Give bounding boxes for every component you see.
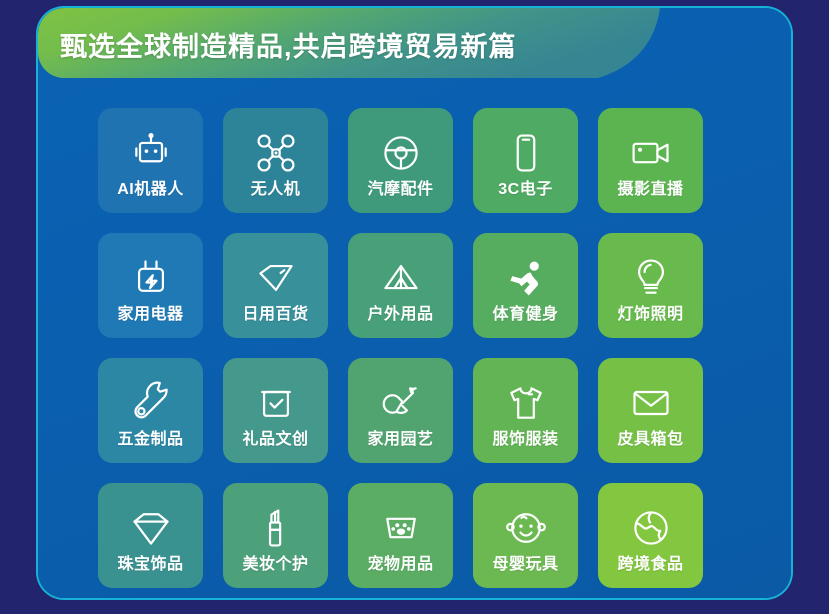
baby-face-icon [503,505,549,551]
category-tile-lipstick[interactable]: 美妆个护 [223,483,328,588]
steering-wheel-icon [378,130,424,176]
category-tile-globe[interactable]: 跨境食品 [598,483,703,588]
tshirt-icon [503,380,549,426]
category-tile-tent[interactable]: 户外用品 [348,233,453,338]
category-tile-wrench[interactable]: 五金制品 [98,358,203,463]
power-plug-icon [128,255,174,301]
category-tile-tshirt[interactable]: 服饰服装 [473,358,578,463]
category-tile-video-camera[interactable]: 摄影直播 [598,108,703,213]
category-tile-steering-wheel[interactable]: 汽摩配件 [348,108,453,213]
category-tile-pet-bowl[interactable]: 宠物用品 [348,483,453,588]
price-tag-icon [253,255,299,301]
category-tile-label: 汽摩配件 [367,182,433,198]
category-tile-label: 户外用品 [367,307,433,323]
category-tile-price-tag[interactable]: 日用百货 [223,233,328,338]
page-background: 甄选全球制造精品,共启跨境贸易新篇 AI机器人无人机汽摩配件3C电子摄影直播家用… [0,0,829,614]
category-tile-label: 礼品文创 [242,432,308,448]
category-tile-robot[interactable]: AI机器人 [98,108,203,213]
category-tile-label: 五金制品 [117,432,183,448]
lipstick-icon [253,505,299,551]
category-tile-label: 3C电子 [498,182,552,198]
category-tile-label: 跨境食品 [617,557,683,573]
category-tile-power-plug[interactable]: 家用电器 [98,233,203,338]
category-tile-label: 家用园艺 [367,432,433,448]
category-tile-label: 母婴玩具 [492,557,558,573]
tent-icon [378,255,424,301]
shovel-icon [378,380,424,426]
diamond-icon [128,505,174,551]
category-tile-label: 美妆个护 [242,557,308,573]
smartphone-icon [503,130,549,176]
category-tile-label: 服饰服装 [492,432,558,448]
category-tile-label: 家用电器 [117,307,183,323]
gift-box-icon [253,380,299,426]
category-tile-runner[interactable]: 体育健身 [473,233,578,338]
category-tile-shovel[interactable]: 家用园艺 [348,358,453,463]
pet-bowl-icon [378,505,424,551]
category-tile-drone[interactable]: 无人机 [223,108,328,213]
category-tile-label: 摄影直播 [617,182,683,198]
globe-icon [628,505,674,551]
lightbulb-icon [628,255,674,301]
video-camera-icon [628,130,674,176]
page-title: 甄选全球制造精品,共启跨境贸易新篇 [60,25,517,64]
wrench-icon [128,380,174,426]
category-tile-smartphone[interactable]: 3C电子 [473,108,578,213]
category-tile-label: 灯饰照明 [617,307,683,323]
category-tile-lightbulb[interactable]: 灯饰照明 [598,233,703,338]
banner-title-container: 甄选全球制造精品,共启跨境贸易新篇 [60,24,640,64]
category-tile-label: 体育健身 [492,307,558,323]
category-tile-label: 日用百货 [242,307,308,323]
category-tile-label: 无人机 [251,182,301,198]
category-card: 甄选全球制造精品,共启跨境贸易新篇 AI机器人无人机汽摩配件3C电子摄影直播家用… [38,8,791,598]
category-tile-label: 宠物用品 [367,557,433,573]
robot-icon [128,130,174,176]
drone-icon [253,130,299,176]
category-tile-baby-face[interactable]: 母婴玩具 [473,483,578,588]
category-grid: AI机器人无人机汽摩配件3C电子摄影直播家用电器日用百货户外用品体育健身灯饰照明… [98,108,791,588]
runner-icon [503,255,549,301]
briefcase-icon [628,380,674,426]
category-tile-label: 珠宝饰品 [117,557,183,573]
category-tile-briefcase[interactable]: 皮具箱包 [598,358,703,463]
category-tile-diamond[interactable]: 珠宝饰品 [98,483,203,588]
category-tile-label: AI机器人 [117,182,184,198]
category-tile-gift-box[interactable]: 礼品文创 [223,358,328,463]
category-tile-label: 皮具箱包 [617,432,683,448]
